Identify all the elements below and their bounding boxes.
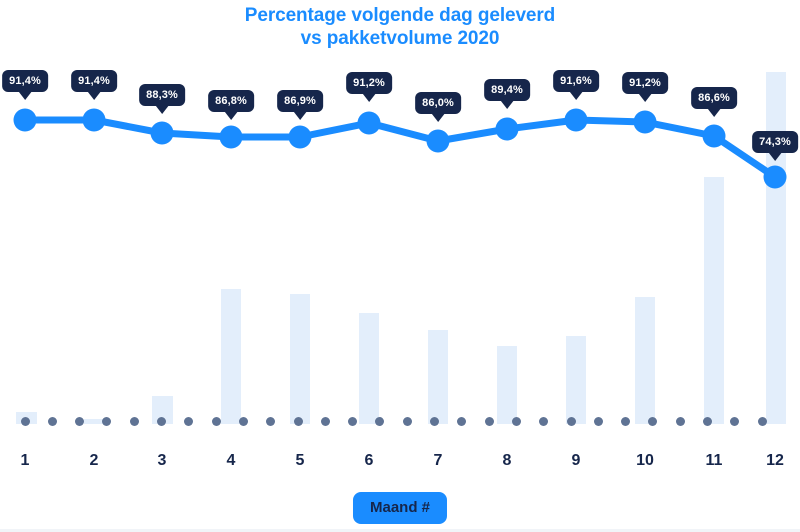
- plot-area: 91,4%91,4%88,3%86,8%86,9%91,2%86,0%89,4%…: [0, 0, 800, 440]
- data-label-month-7: 86,0%: [415, 92, 461, 114]
- x-tick-12: 12: [766, 452, 784, 470]
- data-label-month-5: 86,9%: [277, 90, 323, 112]
- data-label-month-4: 86,8%: [208, 90, 254, 112]
- x-tick-7: 7: [434, 452, 443, 470]
- x-tick-9: 9: [572, 452, 581, 470]
- x-tick-10: 10: [636, 452, 654, 470]
- x-tick-1: 1: [21, 452, 30, 470]
- x-tick-11: 11: [706, 452, 723, 470]
- data-label-month-1: 91,4%: [2, 70, 48, 92]
- data-label-month-10: 91,2%: [622, 72, 668, 94]
- data-label-group: 91,4%91,4%88,3%86,8%86,9%91,2%86,0%89,4%…: [0, 0, 800, 440]
- x-tick-4: 4: [227, 452, 236, 470]
- data-label-month-9: 91,6%: [553, 70, 599, 92]
- chart-container: Percentage volgende dag geleverd vs pakk…: [0, 0, 800, 532]
- data-label-month-2: 91,4%: [71, 70, 117, 92]
- x-tick-6: 6: [365, 452, 374, 470]
- data-label-month-11: 86,6%: [691, 87, 737, 109]
- x-tick-8: 8: [503, 452, 512, 470]
- x-tick-2: 2: [90, 452, 99, 470]
- data-label-month-6: 91,2%: [346, 72, 392, 94]
- data-label-month-3: 88,3%: [139, 84, 185, 106]
- x-tick-5: 5: [296, 452, 305, 470]
- data-label-month-8: 89,4%: [484, 79, 530, 101]
- x-axis-title-badge: Maand #: [353, 492, 447, 524]
- data-label-month-12: 74,3%: [752, 131, 798, 153]
- x-axis-ticks: 123456789101112: [0, 452, 800, 482]
- x-tick-3: 3: [158, 452, 167, 470]
